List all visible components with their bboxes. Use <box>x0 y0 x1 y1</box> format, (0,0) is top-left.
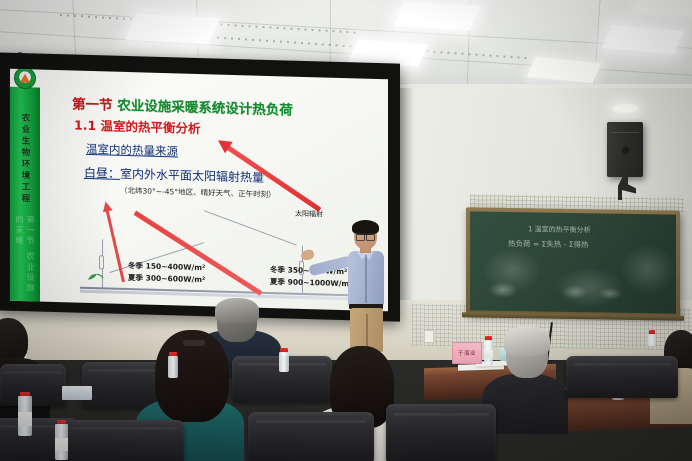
wall-corner-shadow <box>398 88 414 320</box>
value-left-summer: 夏季 300~600W/m² <box>128 272 205 285</box>
water-bottle <box>55 420 68 460</box>
ceiling-downlight <box>612 104 638 113</box>
audience-hair <box>215 298 259 324</box>
solar-radiation-label: 太阳辐射 <box>295 209 323 220</box>
lecture-hall-scene: 1 温室的热平衡分析 热负荷 = Σ失热 - Σ得热 农业生物环境工程 第一节 … <box>0 0 692 461</box>
ceiling-lamp <box>125 14 220 44</box>
slide-note: （北纬30°~-45°地区、晴好天气、正午时刻） <box>120 185 276 200</box>
wall-socket <box>424 330 434 343</box>
water-bottle <box>168 352 178 378</box>
audience-seat <box>386 404 496 461</box>
chalkboard-surface: 1 温室的热平衡分析 热负荷 = Σ失热 - Σ得热 <box>470 211 676 313</box>
laptop-screen <box>62 386 92 400</box>
chalkboard-line-1: 1 温室的热平衡分析 <box>528 224 591 235</box>
slide-section-label: 第一节 <box>72 96 113 113</box>
university-emblem-icon <box>14 69 36 90</box>
slide-sidebar-subtitle: 第一节 农业设施的采暖 <box>14 215 36 302</box>
ceiling-lamp <box>527 57 601 83</box>
water-bottle <box>648 330 656 346</box>
water-bottle <box>484 336 493 366</box>
audience-seat <box>566 356 678 398</box>
water-bottle <box>18 392 32 436</box>
slide-daytime-text: 室内外水平面太阳辐射热量 <box>120 167 264 185</box>
slide-sidebar-title: 农业生物环境工程 <box>19 113 31 205</box>
hair-clip-icon <box>183 340 205 346</box>
slide-subheading: 1.1 温室的热平衡分析 <box>74 115 201 138</box>
audience-seat <box>248 412 374 461</box>
water-bottle <box>279 348 289 372</box>
slide-daytime-row: 白昼：室内外水平面太阳辐射热量 <box>84 164 264 186</box>
slide-topic: 温室内的热量来源 <box>86 141 178 160</box>
slide-sidebar: 农业生物环境工程 第一节 农业设施的采暖 <box>10 87 40 302</box>
audience-seat <box>0 364 66 406</box>
ceiling-lamp <box>633 0 692 16</box>
slide-daytime-label: 白昼： <box>84 166 120 181</box>
ceiling-lamp <box>394 2 480 30</box>
chalkboard-line-2: 热负荷 = Σ失热 - Σ得热 <box>508 238 589 250</box>
panelist-hair <box>504 326 550 356</box>
value-left-winter: 冬季 150~400W/m² <box>128 260 205 273</box>
wall-speaker <box>607 122 643 177</box>
presenter <box>333 222 399 350</box>
chalkboard: 1 温室的热平衡分析 热负荷 = Σ失热 - Σ得热 <box>466 207 680 317</box>
ceiling-lamp <box>602 25 683 54</box>
audience-seat <box>64 420 184 461</box>
name-card: 于海业 <box>452 342 482 364</box>
plant-icon <box>86 271 104 282</box>
greenhouse-post <box>99 255 104 269</box>
presenter-placket <box>365 255 367 303</box>
glasses-icon <box>356 233 375 238</box>
slide-surface: 农业生物环境工程 第一节 农业设施的采暖 第一节 农业设施采暖系统设计热负荷 1… <box>10 69 388 312</box>
